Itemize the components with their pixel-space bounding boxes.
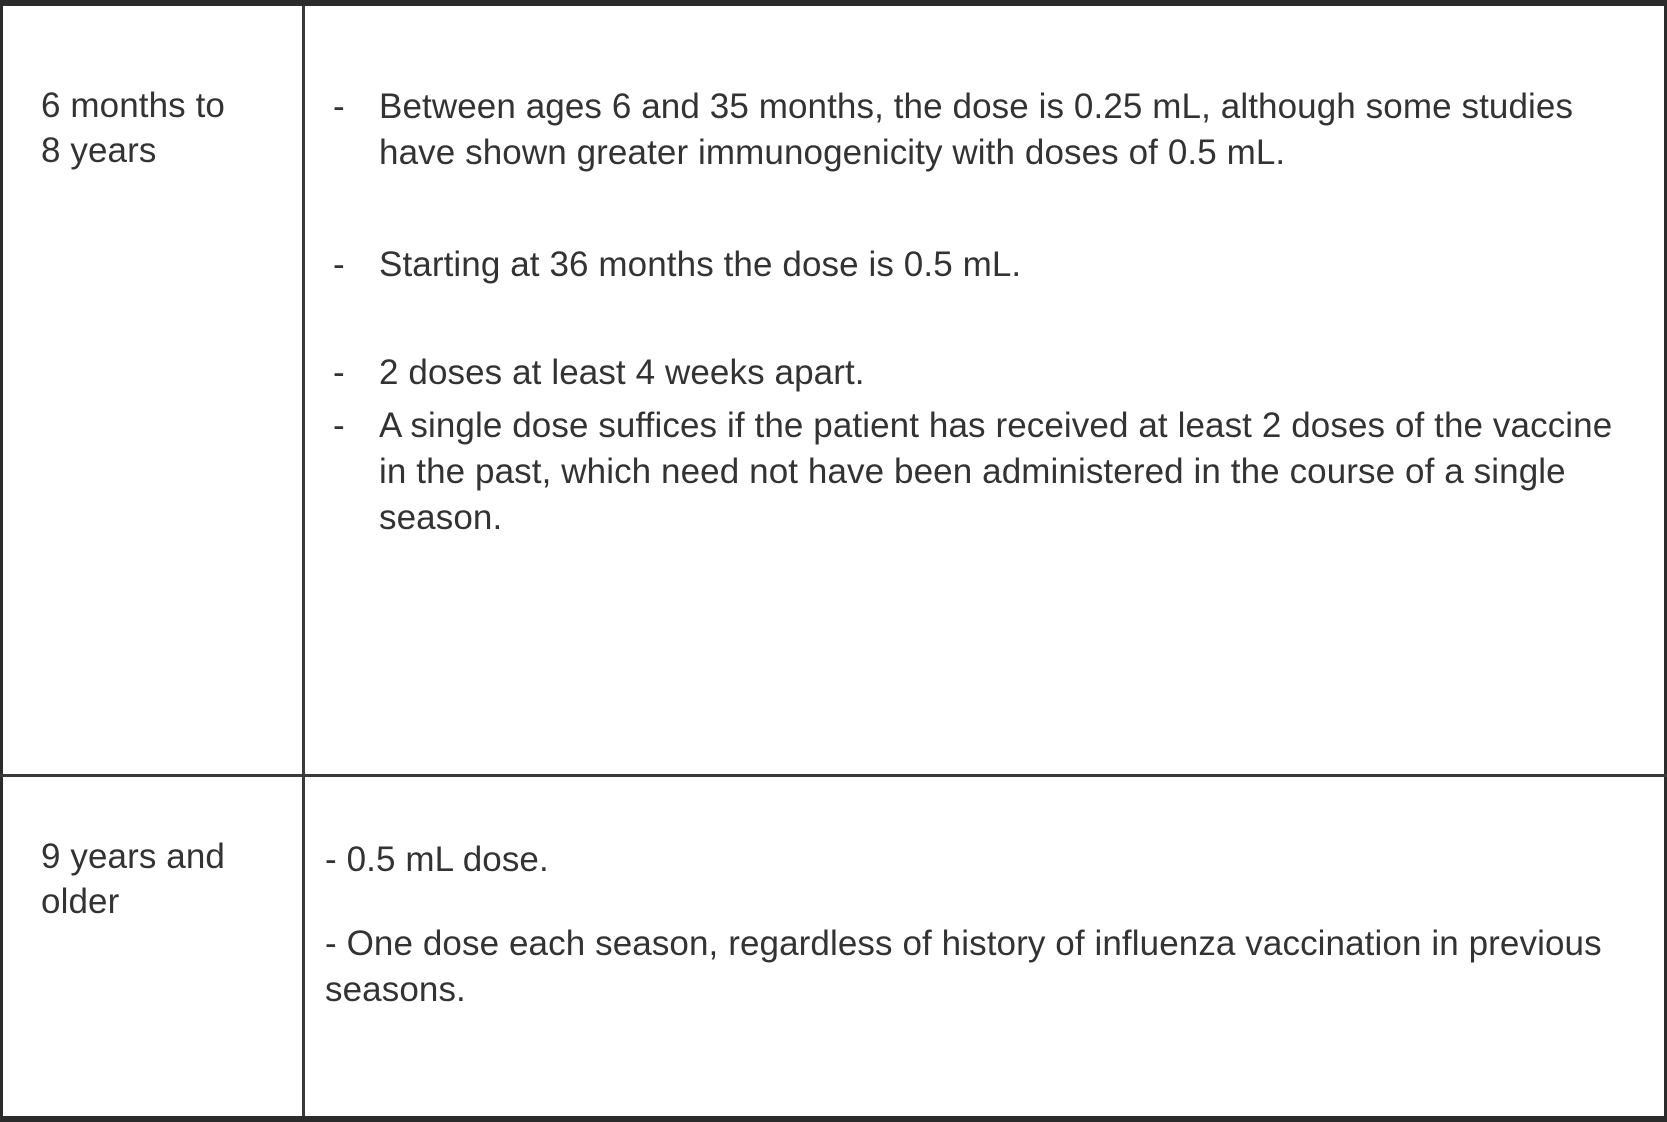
- age-group-cell: 9 years and older: [2, 775, 304, 1119]
- spacer: [327, 395, 1630, 403]
- list-item: - One dose each season, regardless of hi…: [325, 921, 1624, 1013]
- bullet-dash-icon: -: [327, 350, 379, 396]
- list-item: - 2 doses at least 4 weeks apart.: [327, 350, 1630, 396]
- list-item-text: Starting at 36 months the dose is 0.5 mL…: [379, 242, 1630, 288]
- spacer: [327, 176, 1630, 242]
- dosing-detail-list: - 0.5 mL dose. - One dose each season, r…: [305, 777, 1664, 1013]
- table-row: 6 months to 8 years - Between ages 6 and…: [2, 3, 1666, 775]
- bullet-dash-icon: -: [327, 242, 379, 288]
- spacer: [325, 883, 1624, 921]
- list-item-text: A single dose suffices if the patient ha…: [379, 403, 1630, 541]
- list-item: - 0.5 mL dose.: [325, 837, 1624, 883]
- list-item: - Between ages 6 and 35 months, the dose…: [327, 84, 1630, 176]
- bullet-dash-icon: -: [327, 403, 379, 449]
- list-item-text: Between ages 6 and 35 months, the dose i…: [379, 84, 1630, 176]
- dosing-detail-list: - Between ages 6 and 35 months, the dose…: [305, 6, 1664, 541]
- age-group-label: 6 months to 8 years: [3, 6, 302, 174]
- document-root: 6 months to 8 years - Between ages 6 and…: [0, 0, 1667, 1122]
- bullet-dash-icon: -: [327, 84, 379, 130]
- dosing-detail-cell: - 0.5 mL dose. - One dose each season, r…: [304, 775, 1666, 1119]
- list-item-text: 2 doses at least 4 weeks apart.: [379, 350, 1630, 396]
- dose-table: 6 months to 8 years - Between ages 6 and…: [0, 0, 1667, 1122]
- age-group-cell: 6 months to 8 years: [2, 3, 304, 775]
- table-row: 9 years and older - 0.5 mL dose. - One d…: [2, 775, 1666, 1119]
- list-item: - A single dose suffices if the patient …: [327, 403, 1630, 541]
- list-item: - Starting at 36 months the dose is 0.5 …: [327, 242, 1630, 288]
- spacer: [327, 288, 1630, 350]
- age-group-label: 9 years and older: [3, 777, 302, 925]
- dosing-detail-cell: - Between ages 6 and 35 months, the dose…: [304, 3, 1666, 775]
